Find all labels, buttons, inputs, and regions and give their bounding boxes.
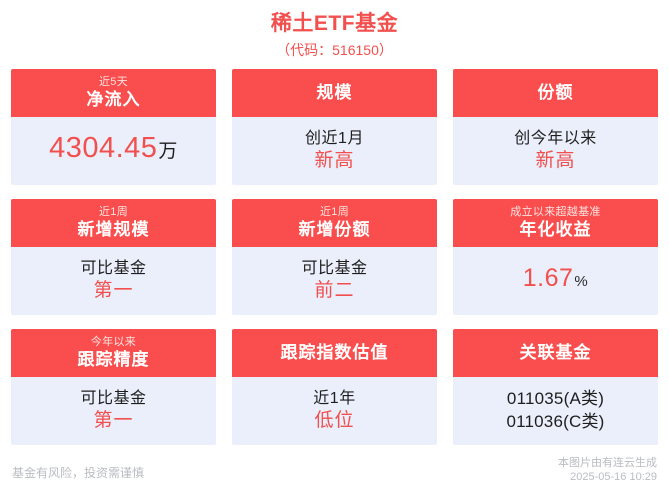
card-header: 近1周 新增规模 (11, 199, 216, 247)
metric-card-shares: 份额 创今年以来 新高 (453, 69, 658, 185)
fund-code-subtitle: （代码：516150） (0, 40, 669, 60)
risk-disclaimer: 基金有风险，投资需谨慎 (12, 456, 144, 482)
page-footer: 基金有风险，投资需谨慎 本图片由有连云生成 2025-05-16 10:29 (0, 456, 669, 492)
metric-card-grid: 近5天 净流入 4304.45万 规模 创近1月 新高 份额 (11, 69, 658, 445)
card-body: 创今年以来 新高 (453, 117, 658, 185)
card-eyebrow: 近5天 (99, 76, 128, 89)
card-value-unit: 万 (158, 135, 178, 169)
card-value-number: 4304.45 (49, 131, 157, 165)
card-value-number: 1.67 (523, 261, 574, 295)
card-body: 可比基金 第一 (11, 377, 216, 445)
card-body: 011035(A类) 011036(C类) (453, 377, 658, 445)
card-header: 今年以来 跟踪精度 (11, 329, 216, 377)
card-title: 年化收益 (520, 219, 592, 240)
card-eyebrow: 近1周 (99, 206, 128, 219)
card-title: 新增规模 (78, 219, 150, 240)
card-header: 规模 (232, 69, 437, 117)
card-title: 关联基金 (520, 342, 592, 364)
credit-source: 本图片由有连云生成 (558, 456, 657, 470)
card-body: 近1年 低位 (232, 377, 437, 445)
related-fund-code-a: 011035(A类) (507, 387, 604, 410)
card-body-top: 近1年 (313, 388, 355, 409)
metric-card-new-shares: 近1周 新增份额 可比基金 前二 (232, 199, 437, 315)
card-eyebrow: 今年以来 (91, 336, 136, 349)
card-header: 成立以来超越基准 年化收益 (453, 199, 658, 247)
card-body: 1.67% (453, 247, 658, 315)
card-body-highlight: 第一 (93, 409, 133, 433)
card-body-highlight: 低位 (314, 409, 354, 433)
card-header: 份额 (453, 69, 658, 117)
card-value: 1.67% (523, 261, 589, 299)
card-body-highlight: 前二 (314, 279, 354, 303)
card-title: 跟踪精度 (78, 349, 150, 370)
card-body-highlight: 新高 (314, 149, 354, 173)
card-eyebrow: 近1周 (320, 206, 349, 219)
page-header: 稀土ETF基金 （代码：516150） (0, 0, 669, 60)
card-value-unit: % (574, 265, 588, 299)
card-header: 近1周 新增份额 (232, 199, 437, 247)
card-header: 关联基金 (453, 329, 658, 377)
metric-card-scale: 规模 创近1月 新高 (232, 69, 437, 185)
fund-info-card-page: 稀土ETF基金 （代码：516150） 近5天 净流入 4304.45万 规模 … (0, 0, 669, 500)
card-body-highlight: 新高 (535, 149, 575, 173)
card-body-top: 可比基金 (80, 258, 146, 279)
metric-card-annualized-excess-return: 成立以来超越基准 年化收益 1.67% (453, 199, 658, 315)
metric-card-tracking-accuracy: 今年以来 跟踪精度 可比基金 第一 (11, 329, 216, 445)
card-body: 创近1月 新高 (232, 117, 437, 185)
card-body: 可比基金 前二 (232, 247, 437, 315)
card-body-top: 创近1月 (305, 128, 364, 149)
credit-timestamp: 2025-05-16 10:29 (558, 470, 657, 484)
card-body-highlight: 第一 (93, 279, 133, 303)
metric-card-index-valuation: 跟踪指数估值 近1年 低位 (232, 329, 437, 445)
related-fund-code-c: 011036(C类) (506, 410, 604, 433)
metric-card-related-funds: 关联基金 011035(A类) 011036(C类) (453, 329, 658, 445)
generation-credit: 本图片由有连云生成 2025-05-16 10:29 (558, 456, 657, 484)
card-header: 近5天 净流入 (11, 69, 216, 117)
card-title: 净流入 (87, 89, 141, 110)
card-title: 份额 (538, 82, 574, 104)
card-title: 跟踪指数估值 (281, 342, 389, 364)
card-body-top: 创今年以来 (514, 128, 597, 149)
card-eyebrow: 成立以来超越基准 (510, 206, 600, 219)
card-body: 4304.45万 (11, 117, 216, 185)
card-body-top: 可比基金 (80, 388, 146, 409)
card-body-top: 可比基金 (301, 258, 367, 279)
page-title: 稀土ETF基金 (0, 11, 669, 37)
card-title: 规模 (317, 82, 353, 104)
card-title: 新增份额 (299, 219, 371, 240)
card-body: 可比基金 第一 (11, 247, 216, 315)
metric-card-net-inflow: 近5天 净流入 4304.45万 (11, 69, 216, 185)
metric-card-new-scale: 近1周 新增规模 可比基金 第一 (11, 199, 216, 315)
card-value: 4304.45万 (49, 131, 178, 169)
card-header: 跟踪指数估值 (232, 329, 437, 377)
